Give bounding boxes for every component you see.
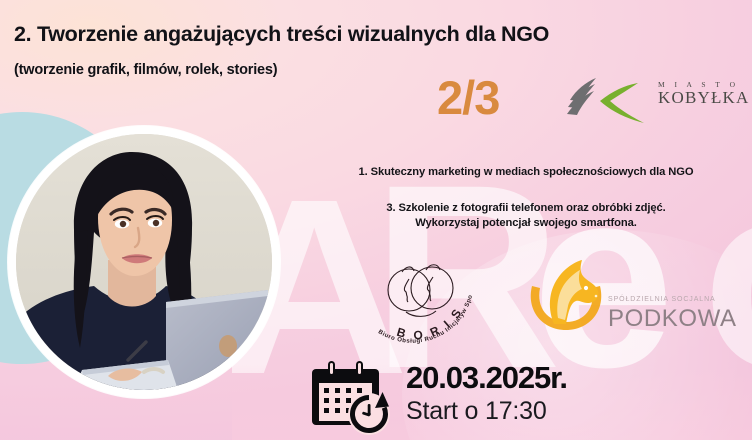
poster-headline: 2. Tworzenie angażujących treści wizualn… bbox=[14, 22, 549, 47]
kobylka-logo-line2: KOBYŁKA bbox=[658, 88, 750, 108]
session-list: 1. Skuteczny marketing w mediach społecz… bbox=[300, 165, 752, 231]
boris-logo: B O R I S Biuro Obsługi Ruchu Inicjatyw … bbox=[362, 258, 512, 350]
calendar-clock-icon-glyph bbox=[312, 359, 396, 437]
event-date: 20.03.2025r. bbox=[406, 362, 567, 393]
podkowa-subtitle: SPÓŁDZIELNIA SOCJALNA bbox=[608, 296, 716, 303]
event-start-time: Start o 17:30 bbox=[406, 399, 567, 424]
kobylka-logo: M I A S T O KOBYŁKA bbox=[566, 74, 744, 130]
speaker-portrait-illustration bbox=[16, 134, 272, 390]
session-list-item-3-cont: Wykorzystaj potencjał swojego smartfona. bbox=[300, 216, 752, 231]
event-datetime-text: 20.03.2025r. Start o 17:30 bbox=[406, 358, 567, 424]
session-list-item-3: 3. Szkolenie z fotografii telefonem oraz… bbox=[300, 201, 752, 216]
kobylka-logo-text: M I A S T O KOBYŁKA bbox=[658, 80, 750, 108]
promo-poster: A R e o 2. Tworzenie angażujących treści… bbox=[0, 0, 752, 440]
poster-subheadline: (tworzenie grafik, filmów, rolek, storie… bbox=[14, 62, 277, 78]
speaker-portrait bbox=[16, 134, 272, 390]
session-list-item-1: 1. Skuteczny marketing w mediach społecz… bbox=[300, 165, 752, 180]
boris-logo-mark: B O R I S Biuro Obsługi Ruchu Inicjatyw … bbox=[362, 258, 512, 350]
calendar-clock-icon bbox=[312, 359, 396, 437]
podkowa-title: PODKOWA bbox=[608, 305, 737, 333]
podkowa-logo: SPÓŁDZIELNIA SOCJALNA PODKOWA bbox=[524, 258, 720, 342]
event-datetime: 20.03.2025r. Start o 17:30 bbox=[312, 358, 567, 437]
session-counter: 2/3 bbox=[437, 74, 499, 121]
